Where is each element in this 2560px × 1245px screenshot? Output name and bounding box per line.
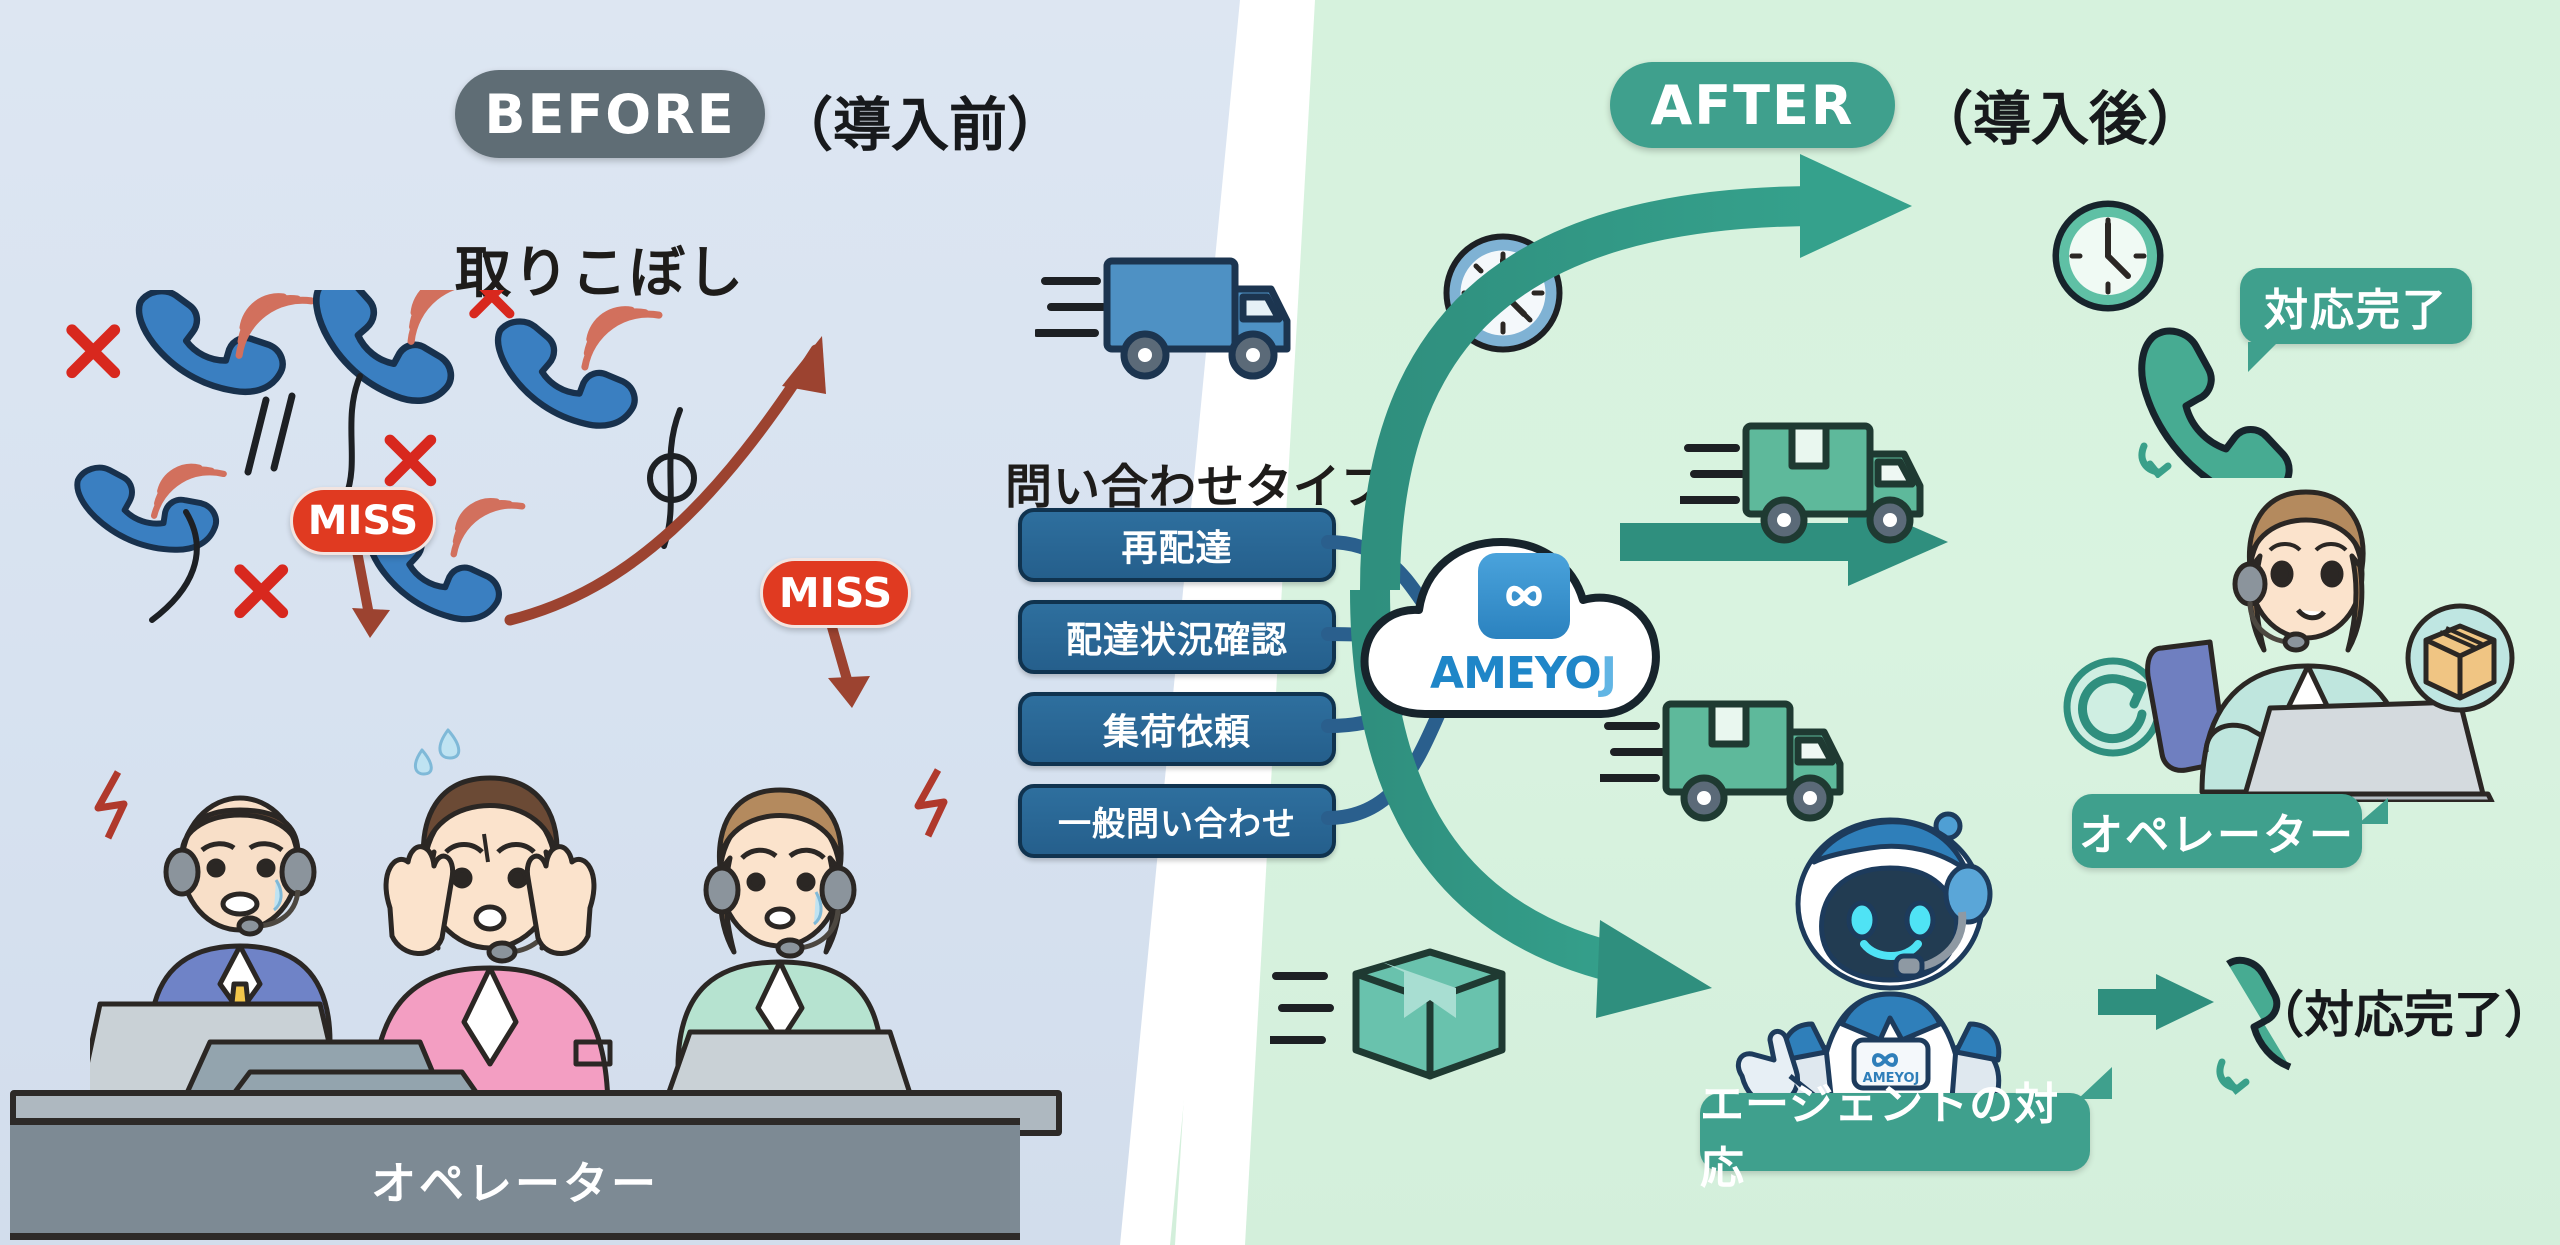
miss-badge-label: MISS	[308, 498, 419, 544]
clock-teal-icon	[2048, 196, 2168, 316]
after-operator-illustration	[2140, 462, 2540, 802]
before-badge-label: BEFORE	[484, 83, 735, 146]
bubble-operator: オペレーター	[2072, 794, 2362, 868]
after-badge: AFTER	[1610, 62, 1895, 148]
inquiry-chip-general-inquiry[interactable]: 一般問い合わせ	[1018, 784, 1336, 858]
miss-badge: MISS	[760, 558, 911, 628]
before-operator-desk-label: オペレーター	[10, 1118, 1020, 1240]
miss-badge: MISS	[290, 487, 436, 555]
before-chaos-art	[60, 290, 1090, 770]
bubble-operator-text: オペレーター	[2079, 799, 2355, 863]
truck-blue-icon	[1035, 245, 1295, 395]
before-badge-paren: （導入前）	[775, 78, 1065, 162]
miss-badge-label: MISS	[779, 569, 892, 617]
parcel-box-icon	[1270, 940, 1510, 1100]
inquiry-chip-redelivery[interactable]: 再配達	[1018, 508, 1336, 582]
after-badge-paren: （導入後）	[1915, 72, 2205, 156]
ameyo-brand-text: AMEYO	[1430, 648, 1601, 699]
bubble-agent-response: エージェントの対応	[1700, 1093, 2090, 1171]
inquiry-chip-delivery-status[interactable]: 配達状況確認	[1018, 600, 1336, 674]
infographic-root: BEFORE （導入前） 取りこぼし	[0, 0, 2560, 1245]
before-operator-label-text: オペレーター	[371, 1147, 659, 1212]
after-badge-label: AFTER	[1651, 74, 1855, 137]
bubble-handled-complete-top-text: 対応完了	[2264, 274, 2448, 338]
inquiry-chip-pickup-request[interactable]: 集荷依頼	[1018, 692, 1336, 766]
bubble-handled-complete-top: 対応完了	[2240, 268, 2472, 344]
bubble-agent-response-text: エージェントの対応	[1700, 1068, 2090, 1196]
truck-green-upper-icon	[1680, 412, 1930, 562]
after-plain-completed-label: （対応完了）	[2254, 975, 2554, 1047]
infinity-icon	[1493, 579, 1555, 613]
ameyo-infinity-logo-mark	[1478, 553, 1570, 639]
stressed-operators-illustration	[90, 712, 1010, 1112]
before-badge: BEFORE	[455, 70, 765, 158]
